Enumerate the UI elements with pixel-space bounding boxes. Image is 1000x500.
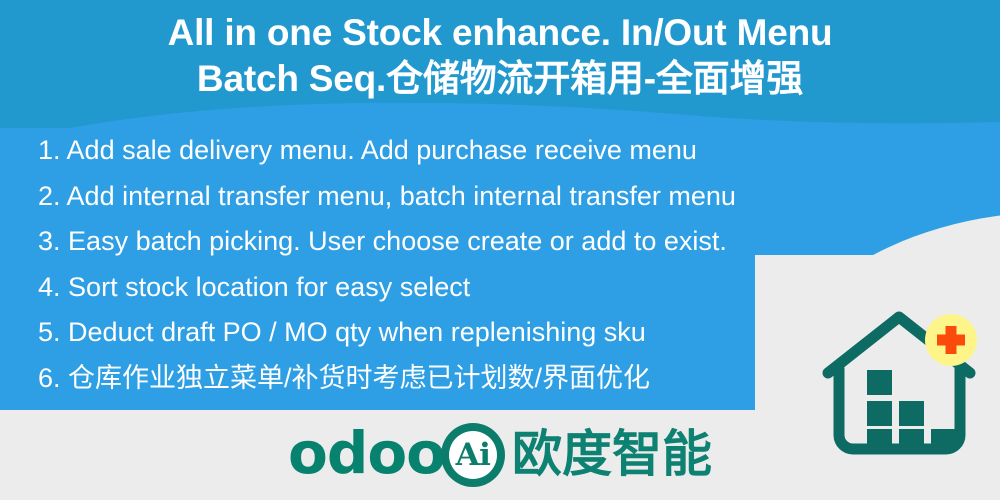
brand-ai-badge: Ai — [441, 423, 505, 487]
list-item-text: Add internal transfer menu, batch intern… — [67, 181, 736, 211]
title-line-1: All in one Stock enhance. In/Out Menu — [0, 10, 1000, 56]
brand-odoo-text: odoo — [288, 424, 445, 482]
list-item-number: 4. — [38, 272, 61, 302]
list-item: 2. Add internal transfer menu, batch int… — [38, 174, 978, 220]
list-item: 1. Add sale delivery menu. Add purchase … — [38, 128, 978, 174]
brand-ai-label: Ai — [449, 431, 497, 479]
list-item-text: Easy batch picking. User choose create o… — [68, 226, 727, 256]
list-item-number: 5. — [38, 317, 61, 347]
list-item: 3. Easy batch picking. User choose creat… — [38, 219, 978, 265]
list-item-number: 2. — [38, 181, 61, 211]
brand-chinese-name: 欧度智能 — [512, 429, 712, 479]
list-item-text: Deduct draft PO / MO qty when replenishi… — [68, 317, 646, 347]
list-item-number: 1. — [38, 135, 61, 165]
warehouse-house-icon — [812, 295, 987, 470]
promo-banner: All in one Stock enhance. In/Out Menu Ba… — [0, 0, 1000, 500]
list-item-text: Sort stock location for easy select — [68, 272, 470, 302]
plus-badge-icon — [925, 314, 977, 366]
title-line-2: Batch Seq.仓储物流开箱用-全面增强 — [0, 56, 1000, 102]
list-item-number: 3. — [38, 226, 61, 256]
list-item-number: 6. — [38, 363, 61, 393]
list-item-text: Add sale delivery menu. Add purchase rec… — [67, 135, 697, 165]
banner-title: All in one Stock enhance. In/Out Menu Ba… — [0, 10, 1000, 102]
list-item-text: 仓库作业独立菜单/补货时考虑已计划数/界面优化 — [68, 363, 650, 393]
